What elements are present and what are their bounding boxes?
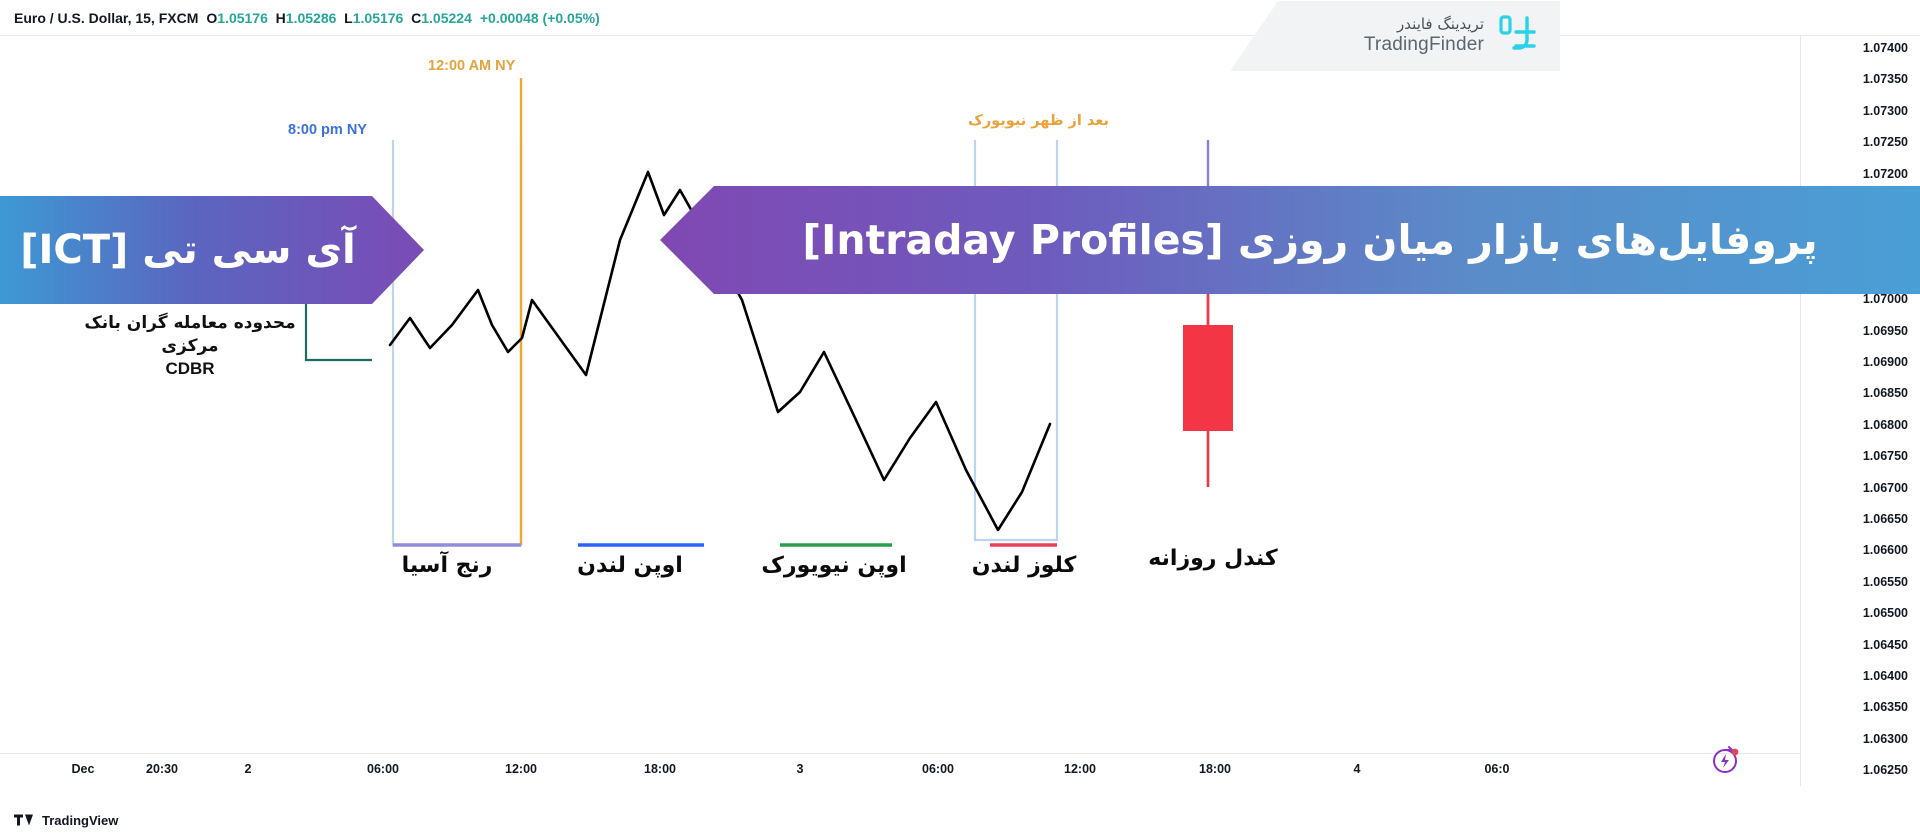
symbol-header-bar: Euro / U.S. Dollar, 15, FXCM O1.05176 H1… bbox=[0, 0, 1920, 36]
session-label-london-close: کلوز لندن bbox=[972, 553, 1077, 578]
time-label: Dec bbox=[72, 762, 95, 776]
annotation-cdbr: محدوده معامله گران بانک مرکزی CDBR bbox=[80, 312, 300, 381]
time-label: 12:00 bbox=[505, 762, 537, 776]
time-label: 06:00 bbox=[922, 762, 954, 776]
time-label: 06:00 bbox=[367, 762, 399, 776]
annotation-ny-afternoon: بعد از ظهر نیویورک bbox=[968, 113, 1109, 129]
tradingview-chart-screenshot: Euro / U.S. Dollar, 15, FXCM O1.05176 H1… bbox=[0, 0, 1920, 840]
time-label: 4 bbox=[1354, 762, 1361, 776]
price-label: 1.06350 bbox=[1863, 700, 1908, 714]
annotation-8pm-ny: 8:00 pm NY bbox=[288, 122, 367, 138]
price-label: 1.06500 bbox=[1863, 606, 1908, 620]
session-label-asia-range: رنج آسیا bbox=[402, 553, 493, 578]
time-label: 2 bbox=[245, 762, 252, 776]
price-label: 1.07400 bbox=[1863, 41, 1908, 55]
change-value: +0.00048 (+0.05%) bbox=[480, 10, 600, 26]
price-axis[interactable]: USD 1.074001.073501.073001.072501.072001… bbox=[1800, 1, 1920, 786]
close-key: C bbox=[411, 10, 421, 26]
tradingview-logo-icon bbox=[14, 813, 36, 828]
high-value: 1.05286 bbox=[286, 10, 337, 26]
time-label: 20:30 bbox=[146, 762, 178, 776]
time-axis[interactable]: Dec20:30206:0012:0018:00306:0012:0018:00… bbox=[0, 753, 1800, 785]
time-label: 18:00 bbox=[1199, 762, 1231, 776]
cdbr-line-2: CDBR bbox=[80, 358, 300, 381]
price-label: 1.06750 bbox=[1863, 449, 1908, 463]
price-label: 1.06700 bbox=[1863, 481, 1908, 495]
price-label: 1.06850 bbox=[1863, 386, 1908, 400]
low-key: L bbox=[344, 10, 353, 26]
tradingview-label: TradingView bbox=[42, 813, 118, 828]
open-value: 1.05176 bbox=[217, 10, 268, 26]
price-label: 1.06950 bbox=[1863, 324, 1908, 338]
price-label: 1.07000 bbox=[1863, 292, 1908, 306]
price-label: 1.06600 bbox=[1863, 543, 1908, 557]
open-key: O bbox=[206, 10, 217, 26]
price-label: 1.06300 bbox=[1863, 732, 1908, 746]
price-label: 1.07200 bbox=[1863, 167, 1908, 181]
tradingview-footer[interactable]: TradingView bbox=[14, 813, 118, 828]
brand-name-fa: تریدینگ فایندر bbox=[1364, 16, 1484, 33]
price-label: 1.06800 bbox=[1863, 418, 1908, 432]
price-label: 1.06550 bbox=[1863, 575, 1908, 589]
price-label: 1.07350 bbox=[1863, 72, 1908, 86]
tradingfinder-brand: تریدینگ فایندر TradingFinder bbox=[1230, 1, 1560, 71]
low-value: 1.05176 bbox=[353, 10, 404, 26]
annotation-12am-ny: 12:00 AM NY bbox=[428, 58, 515, 74]
high-key: H bbox=[276, 10, 286, 26]
brand-name-en: TradingFinder bbox=[1364, 34, 1484, 56]
chart-plot-area[interactable] bbox=[0, 36, 1800, 785]
price-label: 1.06900 bbox=[1863, 355, 1908, 369]
banner-ict: آی سی تی [ICT] bbox=[0, 196, 424, 304]
time-label: 18:00 bbox=[644, 762, 676, 776]
session-label-newyork-open: اوپن نیویورک bbox=[761, 553, 906, 578]
session-label-london-open: اوپن لندن bbox=[577, 553, 683, 578]
ohlc-readout: O1.05176 H1.05286 L1.05176 C1.05224 bbox=[206, 10, 471, 26]
vline-group bbox=[521, 78, 1208, 545]
brand-text: تریدینگ فایندر TradingFinder bbox=[1364, 16, 1484, 55]
symbol-title[interactable]: Euro / U.S. Dollar, 15, FXCM bbox=[14, 10, 198, 26]
session-label-daily-candle: کندل روزانه bbox=[1148, 546, 1277, 571]
speed-badge-icon bbox=[1710, 743, 1744, 782]
close-value: 1.05224 bbox=[421, 10, 472, 26]
banner-intraday-profiles: پروفایل‌های بازار میان روزی [Intraday Pr… bbox=[660, 186, 1920, 294]
price-label: 1.06250 bbox=[1863, 763, 1908, 777]
price-label: 1.07300 bbox=[1863, 104, 1908, 118]
candle-body bbox=[1184, 326, 1232, 430]
price-label: 1.06450 bbox=[1863, 638, 1908, 652]
price-label: 1.06400 bbox=[1863, 669, 1908, 683]
tradingfinder-logo-icon bbox=[1496, 13, 1542, 59]
time-label: 06:0 bbox=[1484, 762, 1509, 776]
cdbr-line-1: محدوده معامله گران بانک مرکزی bbox=[80, 312, 300, 358]
time-label: 12:00 bbox=[1064, 762, 1096, 776]
price-label: 1.06650 bbox=[1863, 512, 1908, 526]
time-label: 3 bbox=[797, 762, 804, 776]
price-label: 1.07250 bbox=[1863, 135, 1908, 149]
